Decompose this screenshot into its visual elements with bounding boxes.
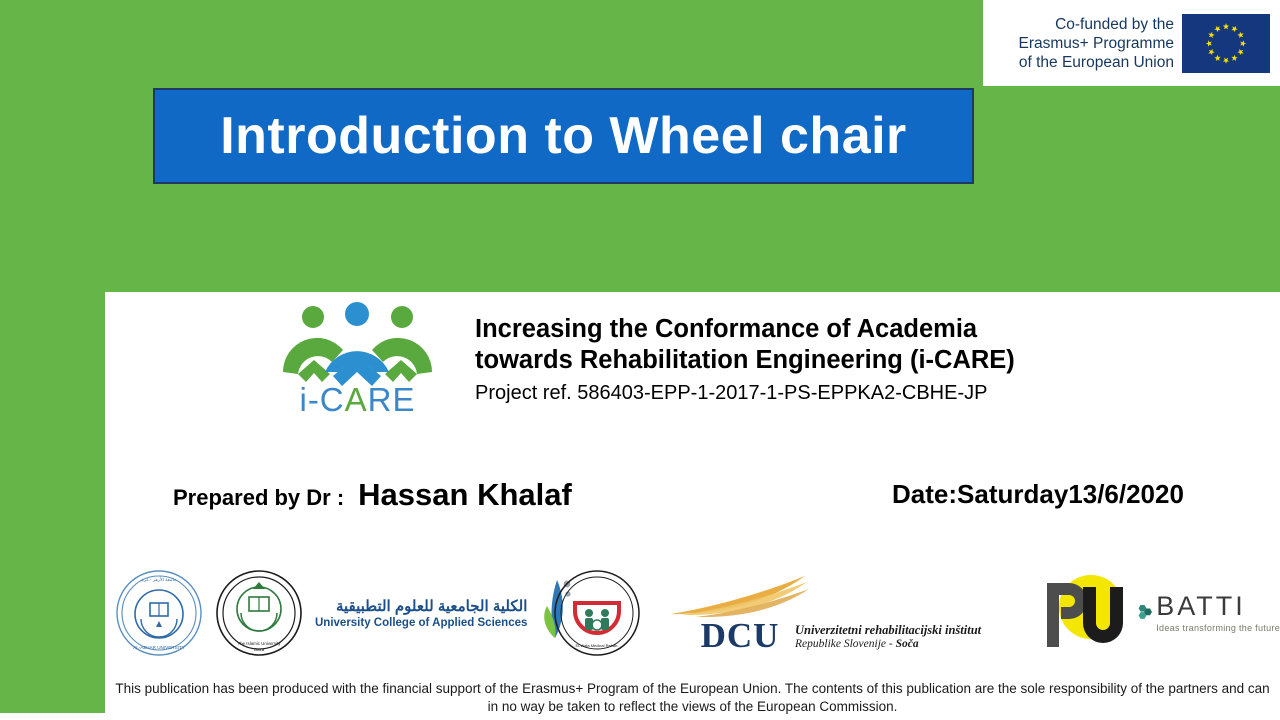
presentation-date: Date:Saturday13/6/2020: [892, 479, 1184, 510]
disclaimer-text: This publication has been produced with …: [115, 680, 1270, 716]
page-title: Introduction to Wheel chair: [220, 110, 907, 162]
ucas-label-arabic: الكلية الجامعية للعلوم التطبيقية: [315, 597, 527, 615]
partner-logo-el-wafa-medical-rehabilitation-hospital: El-Wafa Medical Rehab.: [553, 564, 645, 662]
project-reference: Project ref. 586403-EPP-1-2017-1-PS-EPPK…: [475, 382, 1265, 405]
i-care-wordmark-accent: A: [345, 381, 368, 418]
partner-logo-pu: [1035, 564, 1135, 662]
svg-text:The Islamic University: The Islamic University: [238, 641, 282, 646]
batti-wordmark: BATTI: [1156, 593, 1246, 620]
eu-cofunded-text: Co-funded by the Erasmus+ Programme of t…: [989, 15, 1174, 72]
project-header: i-CARE Increasing the Conformance of Aca…: [105, 292, 1280, 432]
batti-mark-icon: [1135, 580, 1152, 646]
partner-logo-batti: BATTI Ideas transforming the future: [1135, 564, 1280, 662]
pu-mark-icon: [1035, 567, 1131, 659]
soca-label-line-2: Republike Slovenije - Soča: [795, 638, 919, 650]
project-title-line-2: towards Rehabilitation Engineering (i-CA…: [475, 345, 1265, 376]
eu-text-line-2: Erasmus+ Programme: [989, 34, 1174, 53]
eu-cofunded-badge: Co-funded by the Erasmus+ Programme of t…: [983, 0, 1280, 86]
svg-text:AL-AZHAR UNIVERSITY: AL-AZHAR UNIVERSITY: [133, 645, 185, 650]
svg-text:El-Wafa Medical Rehab.: El-Wafa Medical Rehab.: [576, 643, 619, 648]
project-title-line-1: Increasing the Conformance of Academia: [475, 314, 1265, 345]
soca-label-line-2-bold: Soča: [896, 638, 919, 650]
byline-row: Prepared by Dr : Hassan Khalaf Date:Satu…: [105, 477, 1280, 527]
soca-label-line-2-light: Republike Slovenije -: [795, 638, 896, 650]
i-care-logo-icon: i-CARE: [275, 300, 440, 425]
svg-text:Gaza: Gaza: [254, 647, 265, 652]
author-name: Hassan Khalaf: [358, 477, 572, 513]
ucas-label-english: University College of Applied Sciences: [315, 617, 527, 629]
i-care-wordmark: i-CARE: [275, 383, 440, 416]
eu-text-line-1: Co-funded by the: [989, 15, 1174, 34]
i-care-wordmark-suffix: RE: [368, 381, 416, 418]
partner-logos-strip: جامعة الأزهر - غزة AL-AZHAR UNIVERSITY: [105, 564, 1280, 662]
soca-mark-icon: [801, 577, 879, 623]
content-panel: i-CARE Increasing the Conformance of Aca…: [105, 292, 1280, 720]
eu-text-line-3: of the European Union: [989, 53, 1174, 72]
prepared-by-group: Prepared by Dr : Hassan Khalaf: [173, 477, 572, 513]
disclaimer-line-1: This publication has been produced with …: [115, 681, 1164, 696]
partner-logo-dublin-city-university: DCU: [665, 564, 815, 662]
i-care-wordmark-prefix: i-C: [299, 381, 344, 418]
project-text-block: Increasing the Conformance of Academia t…: [475, 314, 1265, 405]
presentation-slide: Co-funded by the Erasmus+ Programme of t…: [0, 0, 1280, 720]
partner-logo-al-azhar-university-gaza: جامعة الأزهر - غزة AL-AZHAR UNIVERSITY: [115, 564, 207, 662]
partner-logo-islamic-university-gaza: The Islamic University Gaza: [215, 564, 307, 662]
dcu-wordmark: DCU: [701, 618, 780, 653]
svg-text:جامعة الأزهر - غزة: جامعة الأزهر - غزة: [141, 575, 176, 583]
slide-title-banner: Introduction to Wheel chair: [153, 88, 974, 184]
prepared-by-label: Prepared by Dr :: [173, 485, 344, 511]
soca-label-line-1: Univerzitetni rehabilitacijski inštitut: [795, 623, 981, 638]
batti-tagline: Ideas transforming the future: [1156, 623, 1280, 633]
partner-logo-university-college-of-applied-sciences: الكلية الجامعية للعلوم التطبيقية Univers…: [315, 564, 540, 662]
european-union-flag-icon: [1182, 14, 1270, 73]
dcu-swoosh-icon: [665, 574, 815, 618]
partner-logo-soca-university-rehabilitation-institute: Univerzitetni rehabilitacijski inštitut …: [795, 564, 1025, 662]
